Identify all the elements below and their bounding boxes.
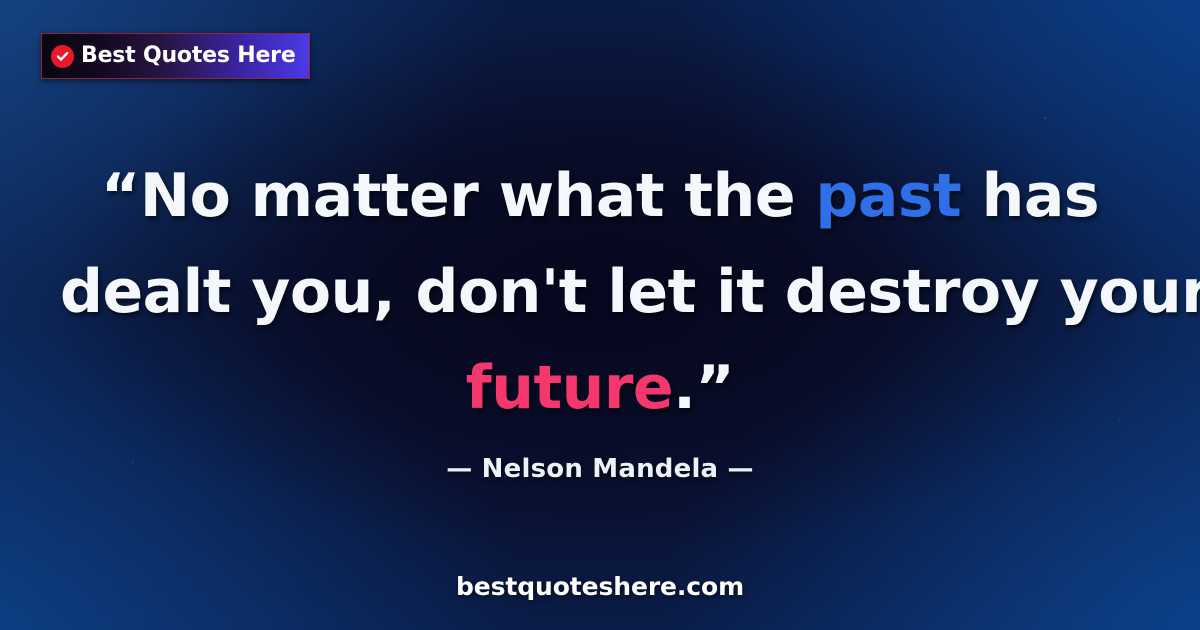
quote-line-2: dealt you, don't let it destroy your <box>60 244 1140 340</box>
quote-line-3-after: .” <box>673 353 734 423</box>
quote-line-3: future.” <box>60 340 1140 436</box>
brand-badge-label: Best Quotes Here <box>81 45 296 67</box>
quote-highlight-future: future <box>466 353 674 423</box>
quote-attribution: — Nelson Mandela — <box>0 454 1200 484</box>
quote-highlight-past: past <box>815 161 961 231</box>
quote-block: “No matter what the past has dealt you, … <box>0 148 1200 436</box>
quote-line-2-text: dealt you, don't let it destroy your <box>60 257 1200 327</box>
quote-line-1: “No matter what the past has <box>60 148 1140 244</box>
site-url: bestquoteshere.com <box>0 572 1200 601</box>
quote-line-1-after: has <box>961 161 1099 231</box>
quote-card: Best Quotes Here “No matter what the pas… <box>0 0 1200 630</box>
quote-line-1-before: “No matter what the <box>101 161 815 231</box>
brand-badge[interactable]: Best Quotes Here <box>41 33 310 79</box>
check-circle-icon <box>51 45 74 68</box>
